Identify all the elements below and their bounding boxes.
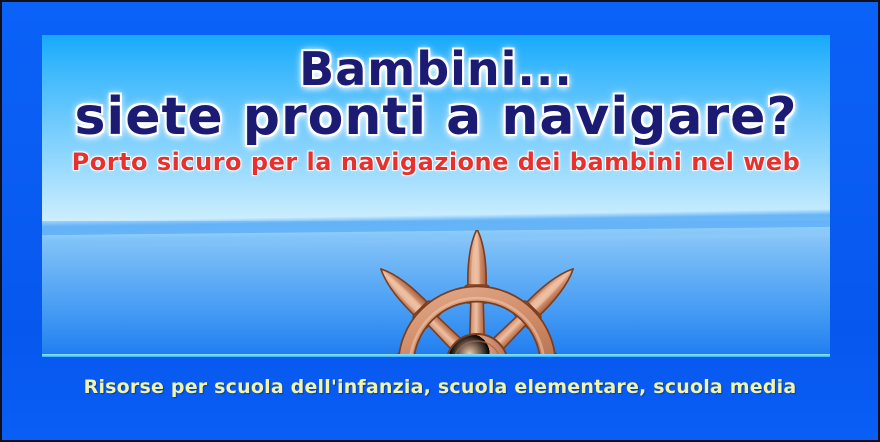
sky-gradient — [42, 35, 830, 221]
footer-tagline: Risorse per scuola dell'infanzia, scuola… — [84, 376, 797, 398]
ships-wheel-illustration — [312, 230, 642, 357]
scene-panel — [42, 35, 830, 357]
footer-bar: Risorse per scuola dell'infanzia, scuola… — [4, 360, 876, 440]
panel-bottom-rule — [42, 354, 830, 357]
site-banner: Bambini... siete pronti a navigare? Port… — [0, 0, 880, 442]
